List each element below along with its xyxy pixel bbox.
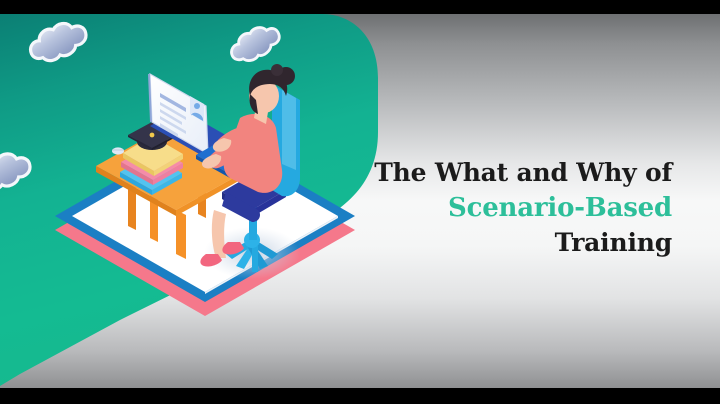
title-line-2-accent: Scenario-Based (372, 192, 672, 226)
title-line-3: Training (372, 227, 672, 260)
cloud-left-edge (0, 148, 34, 194)
page-title: The What and Why of Scenario-Based Train… (372, 157, 672, 260)
video-frame: The What and Why of Scenario-Based Train… (0, 0, 720, 404)
letterbox-bar-top (0, 0, 720, 14)
cloud-top-left (25, 16, 91, 67)
cloud-top-middle (226, 20, 284, 68)
letterbox-bar-bottom (0, 388, 720, 404)
illustration (0, 14, 420, 388)
mouse (112, 147, 124, 154)
title-line-1: The What and Why of (372, 157, 672, 190)
